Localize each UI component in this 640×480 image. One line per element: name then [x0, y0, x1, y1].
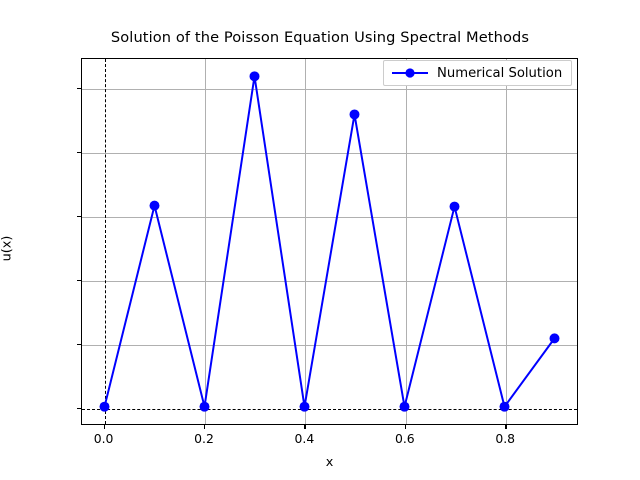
x-tick-label: 0.6	[395, 431, 415, 446]
data-point-marker	[150, 201, 160, 211]
plot-area	[81, 58, 578, 425]
x-tick-label: 0.2	[194, 431, 214, 446]
x-tick-mark	[204, 425, 205, 429]
data-point-marker	[200, 402, 210, 412]
x-tick-label: 0.8	[495, 431, 515, 446]
data-point-marker	[500, 402, 510, 412]
x-tick-mark	[505, 425, 506, 429]
y-axis-label: u(x)	[0, 236, 14, 262]
x-tick-mark	[405, 425, 406, 429]
x-tick-label: 0.0	[94, 431, 114, 446]
legend-line-marker-icon	[391, 66, 429, 80]
data-point-marker	[350, 109, 360, 119]
chart-title: Solution of the Poisson Equation Using S…	[0, 29, 640, 46]
data-point-marker	[300, 402, 310, 412]
x-axis-label: x	[81, 455, 578, 470]
legend[interactable]: Numerical Solution	[383, 60, 572, 86]
series-markers-numerical-solution	[100, 71, 560, 411]
legend-label-numerical-solution: Numerical Solution	[437, 66, 562, 81]
series-line-numerical-solution	[104, 76, 554, 406]
x-tick-mark	[104, 425, 105, 429]
data-point-marker	[450, 202, 460, 212]
data-point-marker	[400, 402, 410, 412]
data-point-marker	[250, 71, 260, 81]
data-series-layer	[82, 59, 577, 424]
x-tick-label: 0.4	[295, 431, 315, 446]
data-point-marker	[550, 333, 560, 343]
x-tick-mark	[304, 425, 305, 429]
data-point-marker	[100, 402, 110, 412]
chart-figure: Solution of the Poisson Equation Using S…	[0, 0, 640, 480]
